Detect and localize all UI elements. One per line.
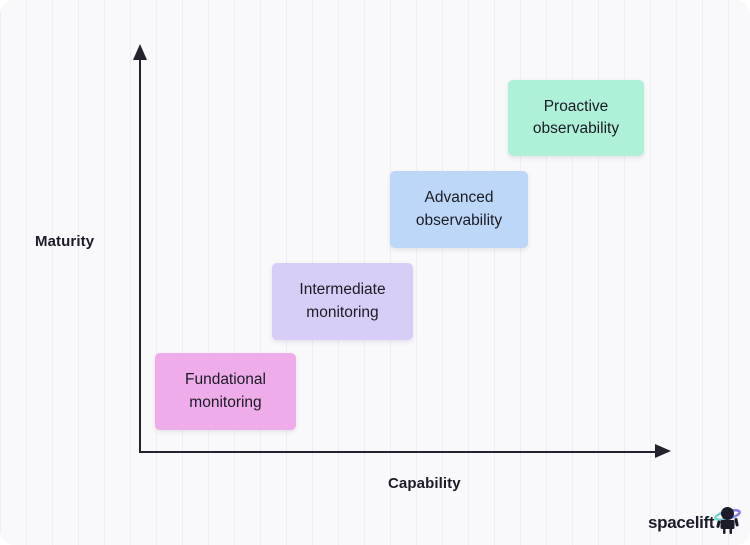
y-axis-arrow-icon — [133, 44, 147, 60]
stage-foundational-line2: monitoring — [189, 394, 261, 411]
stage-foundational-line1: Fundational — [185, 371, 266, 388]
stage-foundational-label: Fundational monitoring — [185, 369, 266, 414]
spacelift-logo: spacelift — [648, 505, 741, 531]
maturity-capability-diagram: Maturity Capability Fundational monitori… — [0, 0, 750, 545]
spacelift-wordmark: spacelift — [648, 514, 714, 531]
stage-intermediate-line2: monitoring — [306, 304, 378, 321]
stage-foundational[interactable]: Fundational monitoring — [155, 353, 296, 430]
y-axis-line — [139, 57, 141, 453]
x-axis-label: Capability — [388, 475, 461, 492]
stage-intermediate-line1: Intermediate — [299, 281, 385, 298]
stage-proactive-line1: Proactive — [544, 98, 609, 115]
stage-proactive[interactable]: Proactive observability — [508, 80, 644, 156]
spacelift-astronaut-icon — [711, 505, 741, 535]
stage-advanced-line2: observability — [416, 212, 502, 229]
stage-proactive-label: Proactive observability — [533, 96, 619, 141]
x-axis-line — [139, 451, 658, 453]
stage-proactive-line2: observability — [533, 120, 619, 137]
stage-advanced-line1: Advanced — [425, 189, 494, 206]
x-axis-arrow-icon — [655, 444, 671, 458]
stage-advanced[interactable]: Advanced observability — [390, 171, 528, 248]
y-axis-label: Maturity — [35, 233, 94, 250]
stage-intermediate[interactable]: Intermediate monitoring — [272, 263, 413, 340]
stage-advanced-label: Advanced observability — [416, 187, 502, 232]
stage-intermediate-label: Intermediate monitoring — [299, 279, 385, 324]
